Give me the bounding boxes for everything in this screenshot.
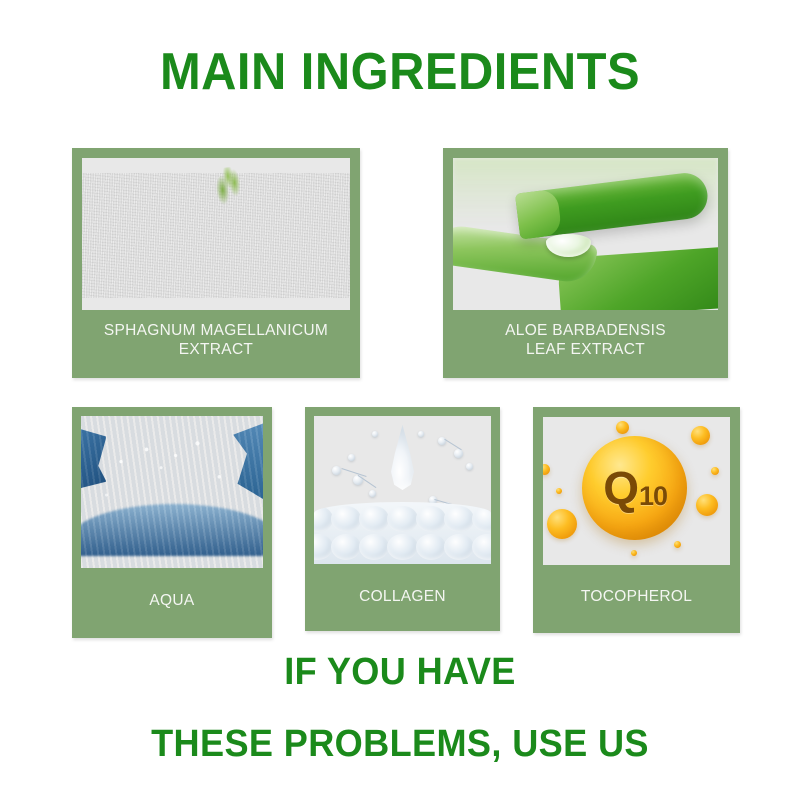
collagen-droplet-icon xyxy=(387,425,419,490)
molecule-node xyxy=(372,431,378,437)
ingredient-card-aloe[interactable]: ALOE BARBADENSIS LEAF EXTRACT xyxy=(443,148,728,378)
small-sphere xyxy=(616,421,629,434)
cell-bubble xyxy=(314,534,333,560)
molecule-node xyxy=(454,449,463,458)
collagen-droplet-photo xyxy=(314,416,491,564)
small-sphere xyxy=(556,488,562,494)
small-sphere xyxy=(674,541,681,548)
ingredient-card-aqua[interactable]: AQUA xyxy=(72,407,272,638)
cell-bubble xyxy=(314,506,333,532)
aloe-vera-leaf-photo xyxy=(453,158,718,310)
small-sphere xyxy=(543,464,550,475)
card-caption-line1: COLLAGEN xyxy=(305,587,500,606)
molecule-node xyxy=(348,454,355,461)
ingredient-card-tocopherol[interactable]: Q10 TOCOPHEROL xyxy=(533,407,740,633)
page-title: MAIN INGREDIENTS xyxy=(24,44,776,100)
cell-bubble xyxy=(331,506,361,532)
cell-bubble xyxy=(359,534,389,560)
molecule-node xyxy=(369,490,376,497)
card-caption-line2: EXTRACT xyxy=(72,340,360,359)
cell-bubble xyxy=(331,534,361,560)
card-caption-line1: ALOE BARBADENSIS xyxy=(443,321,728,340)
q10-subscript: 10 xyxy=(639,483,667,510)
moss-sprout-icon xyxy=(206,165,258,209)
aqua-splash-bubbles xyxy=(81,416,263,568)
ingredient-card-collagen[interactable]: COLLAGEN xyxy=(305,407,500,631)
moss-cushion-photo xyxy=(82,158,350,310)
small-sphere xyxy=(696,494,718,516)
cell-bubble xyxy=(416,534,446,560)
card-caption-line1: TOCOPHEROL xyxy=(533,587,740,606)
cell-bubble xyxy=(359,506,389,532)
footer-line-1: IF YOU HAVE xyxy=(20,650,780,694)
card-caption-line1: SPHAGNUM MAGELLANICUM xyxy=(72,321,360,340)
cell-bubble xyxy=(444,534,474,560)
q10-label: Q10 xyxy=(582,436,687,540)
cell-bubble xyxy=(387,534,417,560)
q10-letter: Q xyxy=(603,465,638,511)
molecule-node xyxy=(466,463,473,470)
small-sphere xyxy=(631,550,637,556)
cell-bubble xyxy=(472,506,491,532)
molecule-node xyxy=(332,466,341,475)
cell-bubble xyxy=(444,506,474,532)
small-sphere xyxy=(547,509,577,539)
footer-line-2: THESE PROBLEMS, USE US xyxy=(20,722,780,766)
card-caption-line1: AQUA xyxy=(72,591,272,610)
collagen-cell-layer xyxy=(314,502,491,564)
water-splash-photo xyxy=(81,416,263,568)
cell-bubble xyxy=(387,506,417,532)
q10-golden-sphere-photo: Q10 xyxy=(543,417,730,565)
small-sphere xyxy=(711,467,719,475)
molecule-node xyxy=(418,431,424,437)
card-caption-line2: LEAF EXTRACT xyxy=(443,340,728,359)
cell-bubble xyxy=(472,534,491,560)
ingredient-card-sphagnum[interactable]: SPHAGNUM MAGELLANICUM EXTRACT xyxy=(72,148,360,378)
molecule-bond xyxy=(444,439,461,450)
cell-bubble xyxy=(416,506,446,532)
small-sphere xyxy=(691,426,710,445)
